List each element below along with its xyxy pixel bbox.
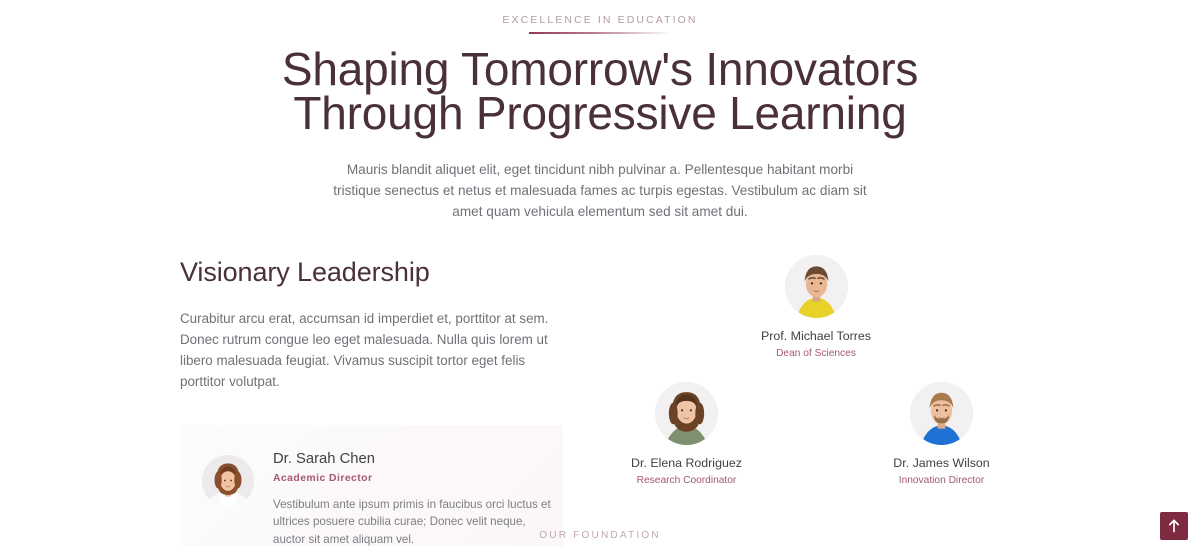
portrait-sarah-chen xyxy=(202,455,254,507)
team-member-card[interactable]: Prof. Michael Torres Dean of Sciences xyxy=(743,255,889,361)
featured-member-role: Academic Director xyxy=(273,472,555,486)
team-member-card[interactable]: Dr. James Wilson Innovation Director xyxy=(869,382,1015,488)
avatar xyxy=(655,382,718,445)
section-title-leadership: Visionary Leadership xyxy=(180,255,580,289)
foundation-eyebrow: Our Foundation xyxy=(0,530,1200,541)
featured-member-card[interactable]: Dr. Sarah Chen Academic Director Vestibu… xyxy=(180,425,563,546)
avatar xyxy=(785,255,848,318)
arrow-up-icon xyxy=(1168,519,1180,533)
avatar xyxy=(910,382,973,445)
team-member-role: Research Coordinator xyxy=(614,474,760,488)
hero-eyebrow-rule xyxy=(529,32,672,34)
page-title: Shaping Tomorrow's Innovators Through Pr… xyxy=(0,47,1200,135)
page-root: Excellence in Education Shaping Tomorrow… xyxy=(0,0,1200,546)
hero-section: Excellence in Education Shaping Tomorrow… xyxy=(0,0,1200,222)
team-row-members: Dr. Elena Rodriguez Research Coordinator xyxy=(608,382,1020,488)
hero-eyebrow: Excellence in Education xyxy=(0,13,1200,27)
main-content: Visionary Leadership Curabitur arcu erat… xyxy=(0,255,1200,546)
team-member-name: Dr. Elena Rodriguez xyxy=(614,455,760,471)
hero-title-line-2: Through Progressive Learning xyxy=(0,91,1200,135)
team-member-name: Prof. Michael Torres xyxy=(743,328,889,344)
team-member-role: Innovation Director xyxy=(869,474,1015,488)
portrait-michael-torres xyxy=(785,255,848,318)
team-member-card[interactable]: Dr. Elena Rodriguez Research Coordinator xyxy=(614,382,760,488)
team-member-name: Dr. James Wilson xyxy=(869,455,1015,471)
team-row-featured: Prof. Michael Torres Dean of Sciences xyxy=(608,255,1020,361)
team-column: Prof. Michael Torres Dean of Sciences xyxy=(580,255,1020,488)
scroll-to-top-button[interactable] xyxy=(1160,512,1188,540)
hero-subtitle: Mauris blandit aliquet elit, eget tincid… xyxy=(322,159,878,222)
leadership-column: Visionary Leadership Curabitur arcu erat… xyxy=(180,255,580,546)
portrait-james-wilson xyxy=(910,382,973,445)
portrait-elena-rodriguez xyxy=(655,382,718,445)
featured-member-name: Dr. Sarah Chen xyxy=(273,450,555,469)
avatar xyxy=(202,455,254,507)
team-member-role: Dean of Sciences xyxy=(743,347,889,361)
leadership-body: Curabitur arcu erat, accumsan id imperdi… xyxy=(180,308,552,392)
